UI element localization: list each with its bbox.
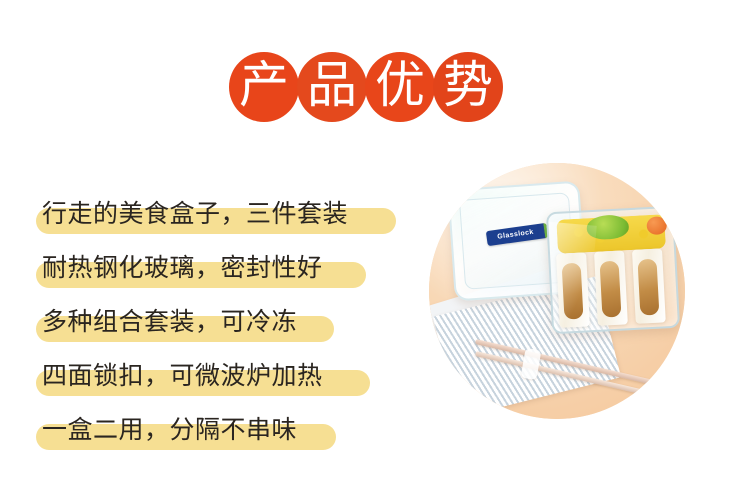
cutlet-icon-3 <box>637 259 659 316</box>
feature-item-4: 四面锁扣，可微波炉加热 <box>36 348 426 402</box>
feature-label-3: 多种组合套装，可冷冻 <box>36 309 297 334</box>
sandwich-icon-2 <box>594 250 628 325</box>
title-char-badge-4: 势 <box>433 52 503 122</box>
feature-label-5: 一盒二用，分隔不串味 <box>36 417 297 442</box>
glass-lunch-box-icon <box>546 206 680 335</box>
title-char-badge-1: 产 <box>229 52 299 122</box>
cutlet-icon-2 <box>600 261 622 318</box>
feature-item-5: 一盒二用，分隔不串味 <box>36 402 426 456</box>
feature-item-3: 多种组合套装，可冷冻 <box>36 294 426 348</box>
brand-label-text: Glasslock <box>497 229 534 241</box>
sandwich-icon-3 <box>632 248 666 323</box>
title-char-badge-3: 优 <box>365 52 435 122</box>
feature-item-2: 耐热钢化玻璃，密封性好 <box>36 240 426 294</box>
feature-item-1: 行走的美食盒子，三件套装 <box>36 186 426 240</box>
title-char-3: 优 <box>375 60 425 110</box>
title-char-badge-2: 品 <box>297 52 367 122</box>
feature-label-2: 耐热钢化玻璃，密封性好 <box>36 255 323 280</box>
page-title: 产 品 优 势 <box>229 52 501 122</box>
feature-label-1: 行走的美食盒子，三件套装 <box>36 201 348 226</box>
product-photo: Glasslock <box>429 163 685 419</box>
page-title-block: 产 品 优 势 <box>0 52 730 142</box>
title-char-1: 产 <box>239 60 289 110</box>
title-char-2: 品 <box>307 60 357 110</box>
feature-list: 行走的美食盒子，三件套装 耐热钢化玻璃，密封性好 多种组合套装，可冷冻 四面锁扣… <box>36 186 426 456</box>
title-char-4: 势 <box>443 60 493 110</box>
feature-label-4: 四面锁扣，可微波炉加热 <box>36 363 323 388</box>
